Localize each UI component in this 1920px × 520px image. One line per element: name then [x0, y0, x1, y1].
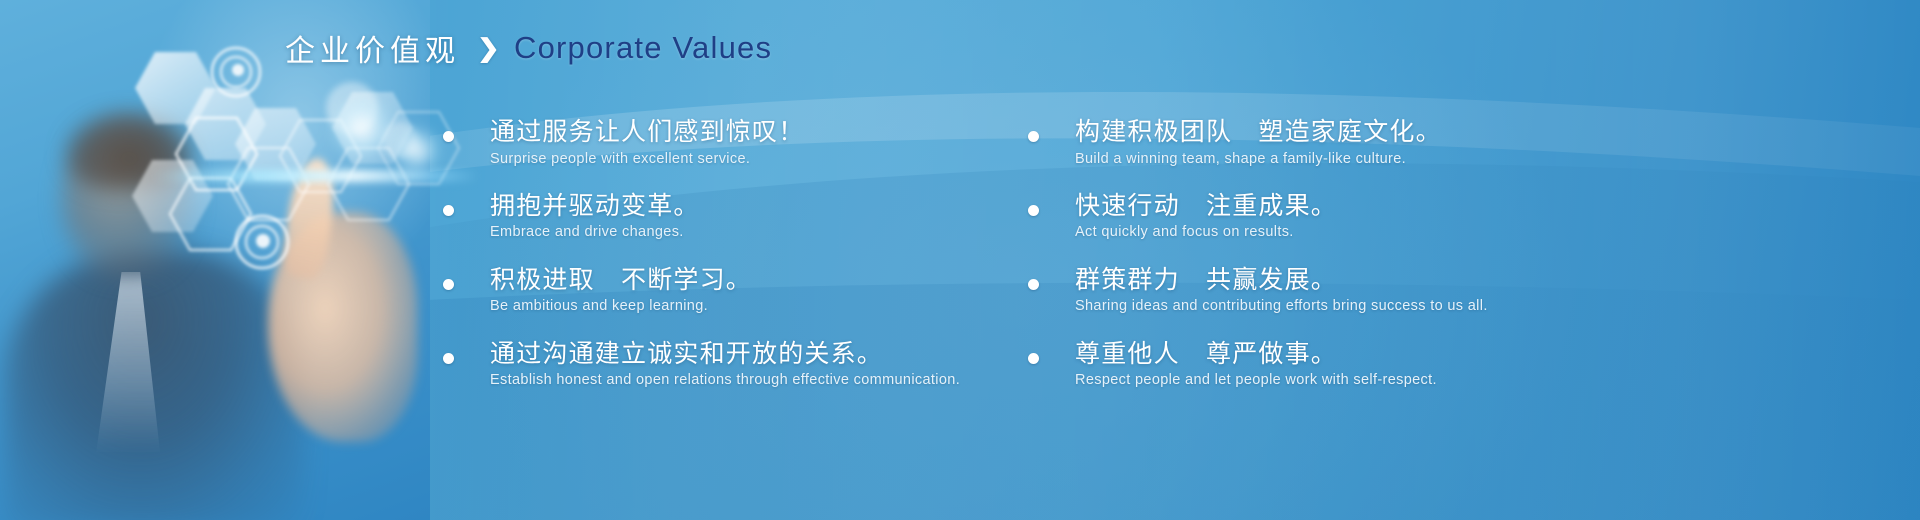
bullet-dot-icon: [1028, 205, 1039, 216]
value-item: 通过服务让人们感到惊叹！ Surprise people with excell…: [443, 118, 1043, 168]
bullet-dot-icon: [1028, 279, 1039, 290]
value-text-cn: 通过服务让人们感到惊叹！: [490, 118, 1043, 148]
page-title-cn: 企业价值观: [285, 26, 460, 70]
value-text-cn: 通过沟通建立诚实和开放的关系。: [490, 340, 1043, 370]
value-item: 尊重他人 尊严做事。 Respect people and let people…: [1028, 340, 1908, 390]
values-column-right: 构建积极团队 塑造家庭文化。 Build a winning team, sha…: [1028, 118, 1908, 414]
chevron-right-icon: ❯: [477, 36, 497, 60]
bullet-dot-icon: [443, 131, 454, 142]
value-text-en: Sharing ideas and contributing efforts b…: [1075, 298, 1908, 315]
value-text-cn: 积极进取 不断学习。: [490, 266, 1043, 296]
page-title: 企业价值观 ❯ Corporate Values: [285, 26, 772, 70]
value-text-en: Embrace and drive changes.: [490, 224, 1043, 241]
bullet-dot-icon: [1028, 353, 1039, 364]
value-item: 群策群力 共赢发展。 Sharing ideas and contributin…: [1028, 266, 1908, 316]
bullet-dot-icon: [1028, 131, 1039, 142]
values-columns: 通过服务让人们感到惊叹！ Surprise people with excell…: [0, 118, 1920, 428]
value-item: 拥抱并驱动变革。 Embrace and drive changes.: [443, 192, 1043, 242]
value-text-en: Surprise people with excellent service.: [490, 151, 1043, 168]
value-item: 积极进取 不断学习。 Be ambitious and keep learnin…: [443, 266, 1043, 316]
corporate-values-banner: 企业价值观 ❯ Corporate Values 通过服务让人们感到惊叹！ Su…: [0, 0, 1920, 520]
value-item: 构建积极团队 塑造家庭文化。 Build a winning team, sha…: [1028, 118, 1908, 168]
value-text-cn: 尊重他人 尊严做事。: [1075, 340, 1908, 370]
page-title-en: Corporate Values: [514, 30, 772, 66]
bullet-dot-icon: [443, 279, 454, 290]
value-text-en: Act quickly and focus on results.: [1075, 224, 1908, 241]
value-text-en: Build a winning team, shape a family-lik…: [1075, 151, 1908, 168]
value-text-cn: 拥抱并驱动变革。: [490, 192, 1043, 222]
values-column-left: 通过服务让人们感到惊叹！ Surprise people with excell…: [443, 118, 1043, 414]
value-text-en: Be ambitious and keep learning.: [490, 298, 1043, 315]
value-text-cn: 群策群力 共赢发展。: [1075, 266, 1908, 296]
value-text-cn: 快速行动 注重成果。: [1075, 192, 1908, 222]
value-text-en: Establish honest and open relations thro…: [490, 372, 1043, 389]
value-text-en: Respect people and let people work with …: [1075, 372, 1908, 389]
value-item: 通过沟通建立诚实和开放的关系。 Establish honest and ope…: [443, 340, 1043, 390]
value-item: 快速行动 注重成果。 Act quickly and focus on resu…: [1028, 192, 1908, 242]
bullet-dot-icon: [443, 353, 454, 364]
value-text-cn: 构建积极团队 塑造家庭文化。: [1075, 118, 1908, 148]
bullet-dot-icon: [443, 205, 454, 216]
